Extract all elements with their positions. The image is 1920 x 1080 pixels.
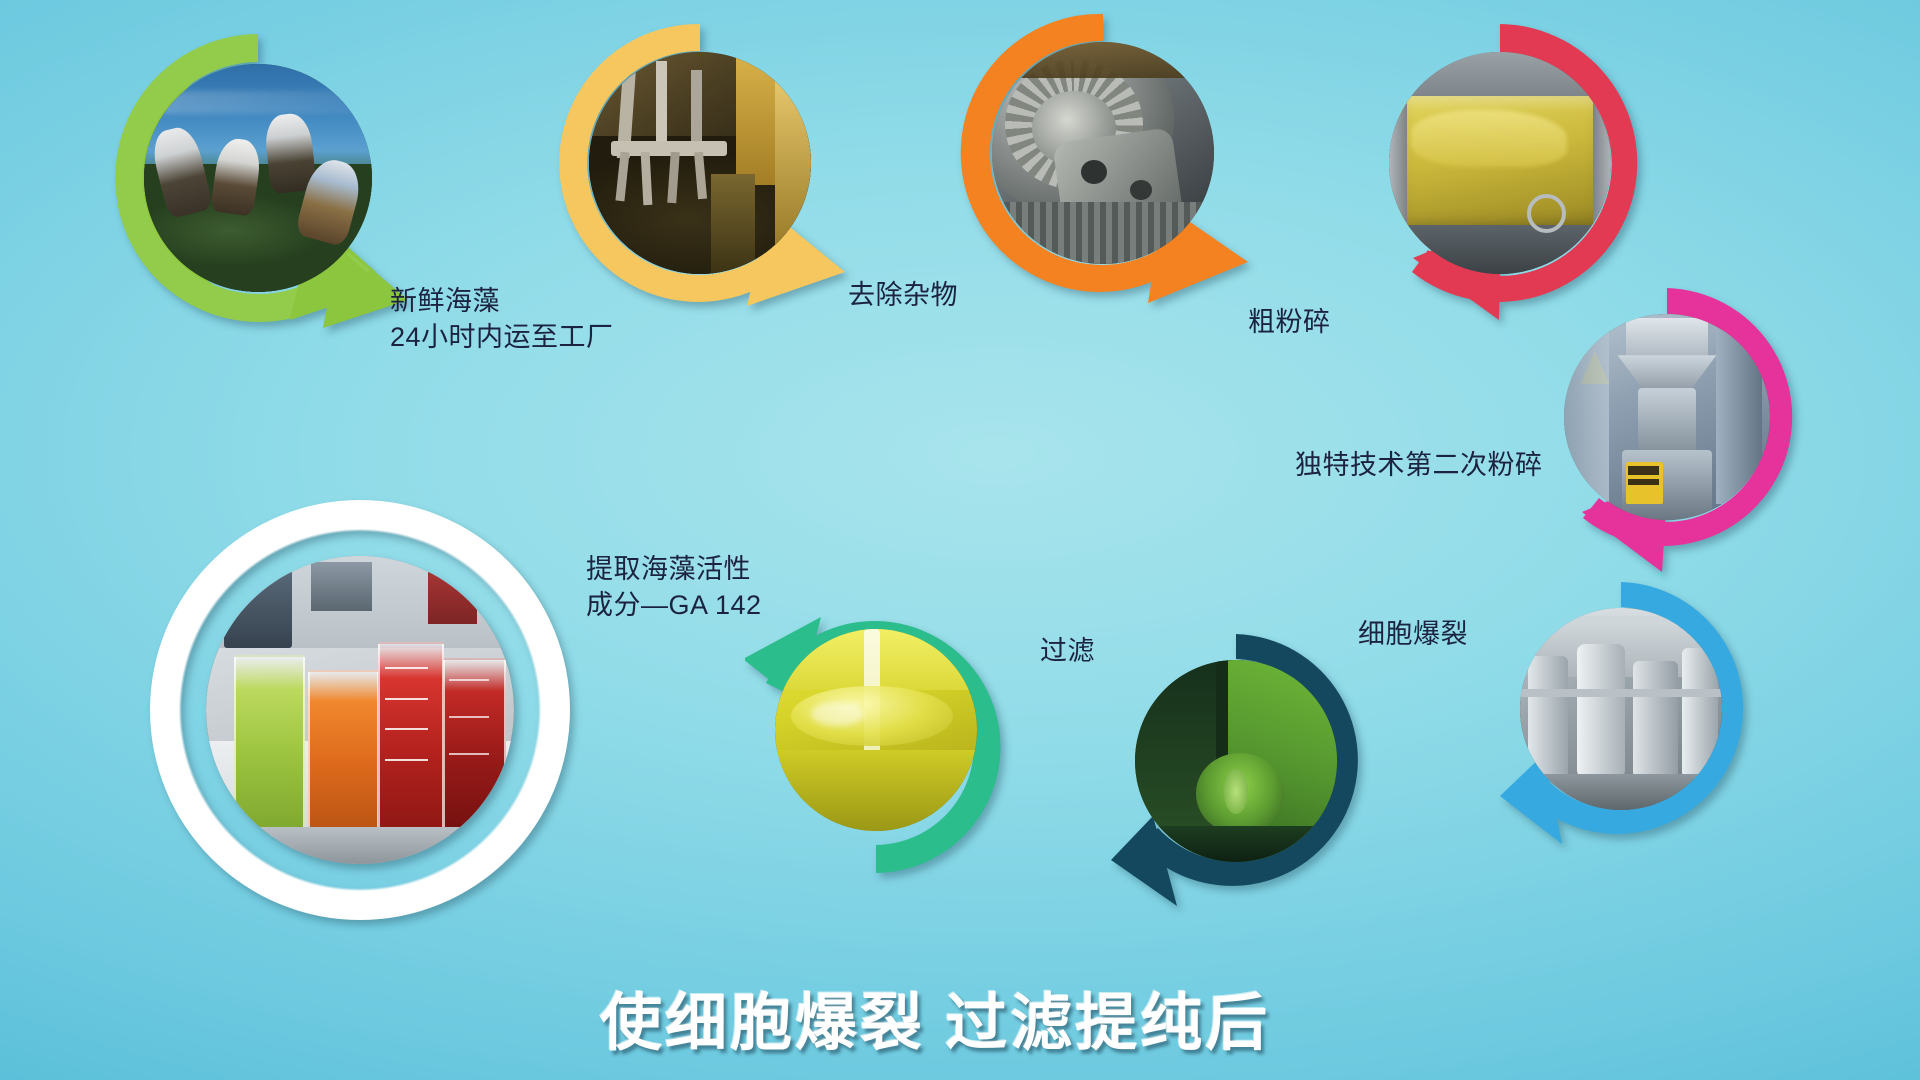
label-fresh-seaweed: 新鲜海藻 24小时内运至工厂 — [390, 284, 614, 355]
step-node-filtration — [1105, 630, 1367, 912]
step-node-fine-mill — [1532, 282, 1802, 587]
claw-machine-photo — [589, 52, 811, 274]
label-coarse-grind: 粗粉碎 — [1248, 305, 1331, 341]
poster-title: 使细胞爆裂 过滤提纯后 — [600, 972, 1270, 1062]
yellow-powder-vat-photo — [1389, 52, 1611, 274]
yellow-liquid-pour-photo — [775, 629, 977, 831]
grinder-blades-photo — [992, 42, 1214, 264]
step-node-coarse-grinder — [958, 8, 1248, 303]
label-second-grind: 独特技术第二次粉碎 — [1295, 448, 1543, 484]
label-cell-burst: 细胞爆裂 — [1358, 617, 1468, 653]
step-node-pour-extract — [745, 585, 1007, 877]
infographic-canvas: 新鲜海藻 24小时内运至工厂 去除杂物 粗粉碎 独特技术第二次粉碎 细胞爆裂 过… — [0, 0, 1920, 1080]
label-remove-debris: 去除杂物 — [848, 278, 958, 314]
step-node-final-beakers — [150, 500, 570, 920]
step-node-harvest — [108, 28, 408, 328]
label-filtration: 过滤 — [1040, 634, 1095, 670]
lab-beakers-photo — [206, 556, 514, 864]
green-slurry-photo — [1135, 660, 1337, 862]
factory-tanks-photo — [1520, 608, 1722, 810]
colloid-mill-photo — [1564, 314, 1770, 520]
step-node-cleaning — [555, 18, 845, 308]
label-extract: 提取海藻活性 成分—GA 142 — [586, 552, 762, 623]
seaweed-harvest-photo — [144, 64, 372, 292]
step-node-cell-burst — [1490, 578, 1752, 848]
